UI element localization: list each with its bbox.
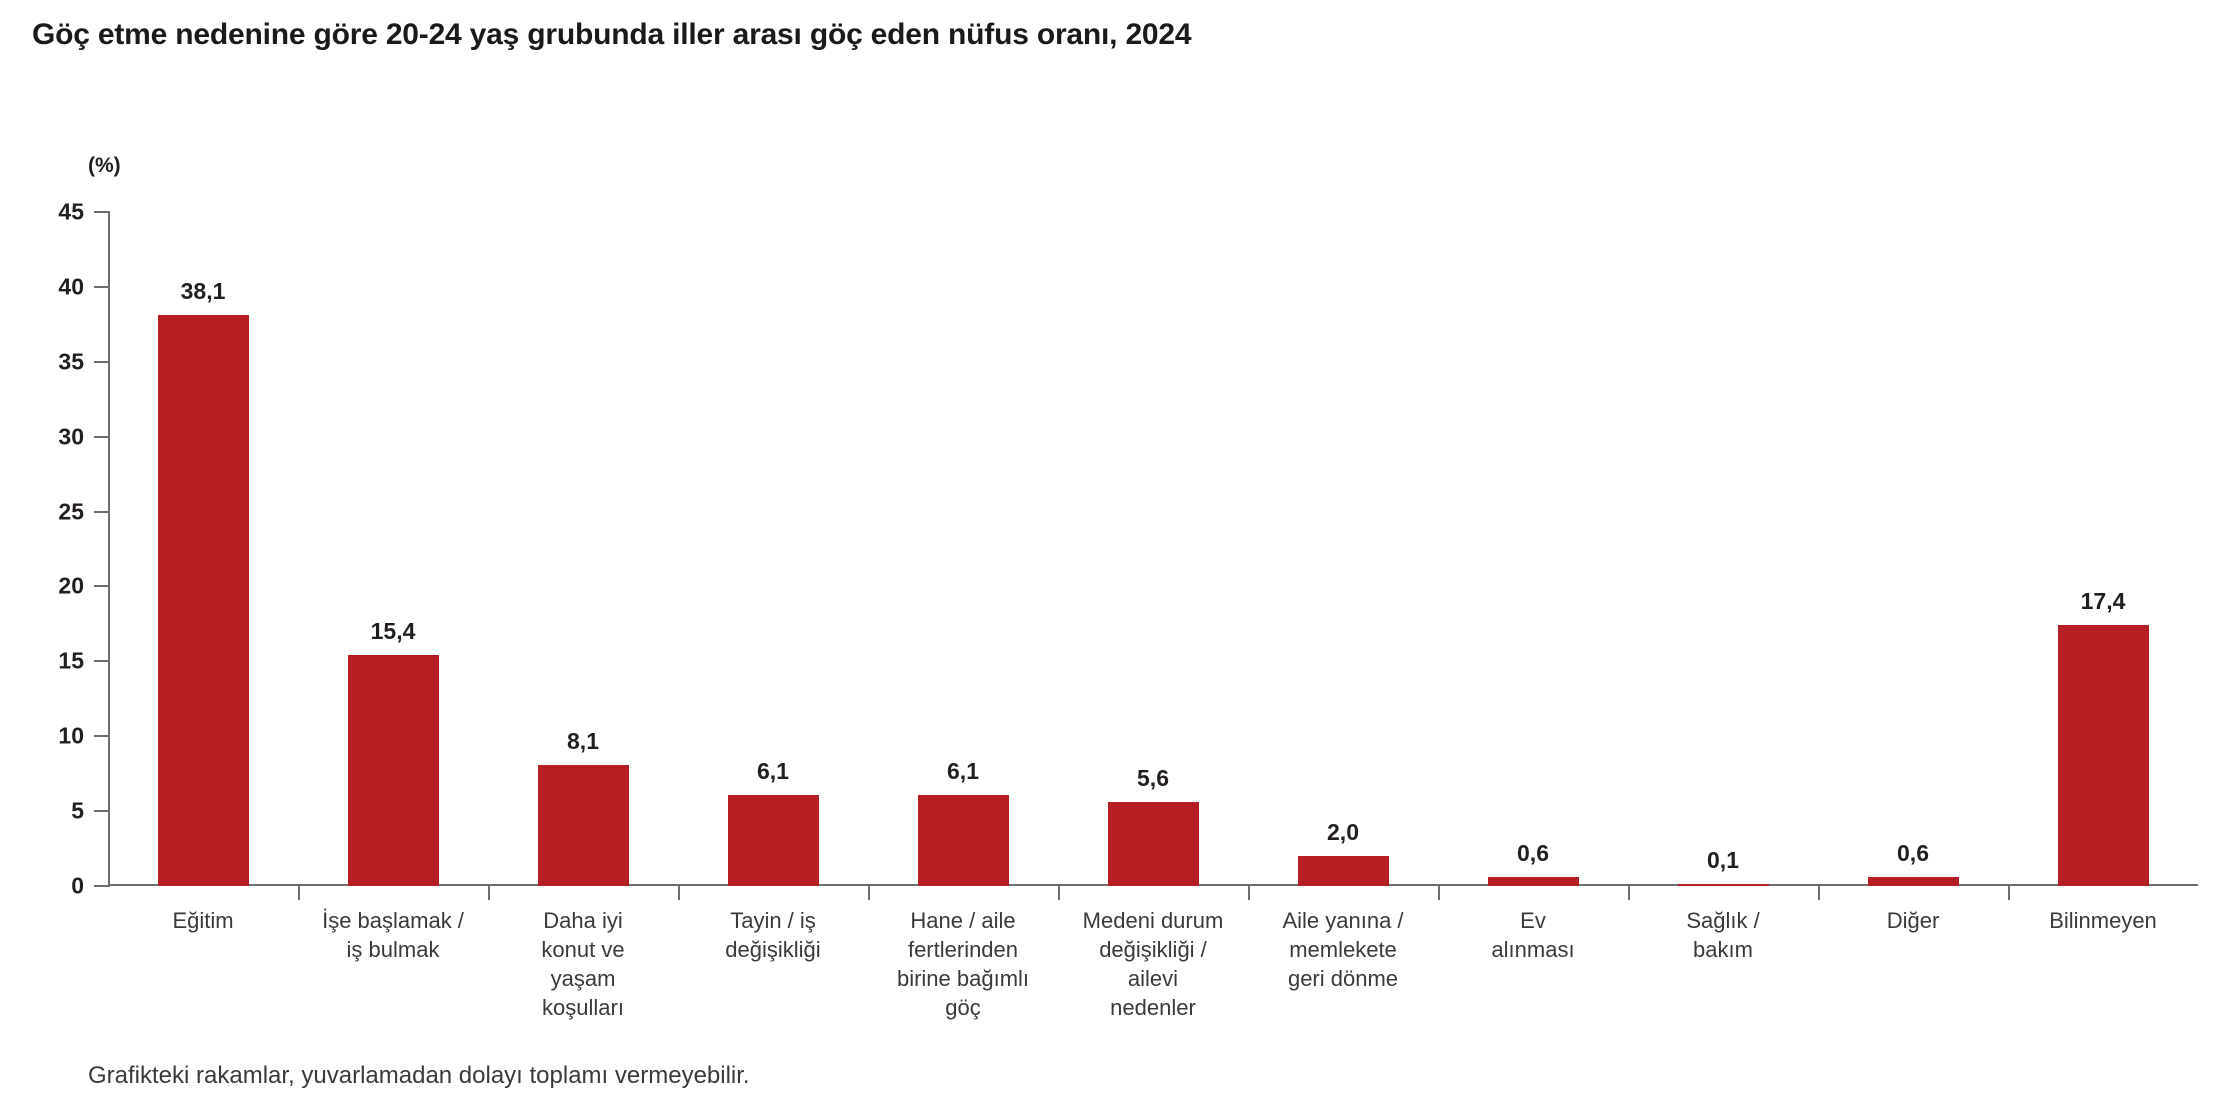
y-axis-tick-label: 15 (14, 648, 84, 675)
bar-value-label: 6,1 (947, 758, 979, 785)
bar[interactable] (1488, 877, 1579, 886)
bar-column[interactable]: 0,1 (1678, 212, 1769, 886)
bar[interactable] (1868, 877, 1959, 886)
bar[interactable] (2058, 625, 2149, 886)
category-label-line: Eğitim (108, 906, 298, 935)
bar-column[interactable]: 6,1 (728, 212, 819, 886)
x-axis-category-label: Aile yanına /memleketegeri dönme (1248, 906, 1438, 993)
x-axis-tick (1248, 886, 1250, 900)
bar-value-label: 38,1 (181, 278, 226, 305)
x-axis-tick (298, 886, 300, 900)
x-axis-tick (2008, 886, 2010, 900)
bar-column[interactable]: 2,0 (1298, 212, 1389, 886)
category-label-line: Sağlık / (1628, 906, 1818, 935)
category-label-line: alınması (1438, 935, 1628, 964)
bar-value-label: 17,4 (2081, 588, 2126, 615)
y-axis-tick (94, 660, 110, 662)
y-axis-tick (94, 585, 110, 587)
y-axis-tick-label: 20 (14, 573, 84, 600)
y-axis-tick (94, 211, 110, 213)
category-label-line: birine bağımlı (868, 964, 1058, 993)
x-axis-tick (1438, 886, 1440, 900)
bar-value-label: 8,1 (567, 728, 599, 755)
category-label-line: geri dönme (1248, 964, 1438, 993)
x-axis-tick (868, 886, 870, 900)
category-label-line: memlekete (1248, 935, 1438, 964)
y-axis-tick-label: 5 (14, 798, 84, 825)
category-label-line: nedenler (1058, 993, 1248, 1022)
chart-footnote: Grafikteki rakamlar, yuvarlamadan dolayı… (88, 1062, 750, 1090)
y-axis-tick-label: 10 (14, 723, 84, 750)
category-label-line: Aile yanına / (1248, 906, 1438, 935)
category-label-line: Ev (1438, 906, 1628, 935)
category-label-line: fertlerinden (868, 935, 1058, 964)
x-axis-category-label: Eğitim (108, 906, 298, 935)
x-axis-category-label: Sağlık /bakım (1628, 906, 1818, 964)
bar-column[interactable]: 17,4 (2058, 212, 2149, 886)
bar-column[interactable]: 5,6 (1108, 212, 1199, 886)
category-label-line: değişikliği / (1058, 935, 1248, 964)
x-axis-tick (678, 886, 680, 900)
category-label-line: Diğer (1818, 906, 2008, 935)
category-label-line: Bilinmeyen (2008, 906, 2198, 935)
bar-column[interactable]: 6,1 (918, 212, 1009, 886)
x-axis-category-label: Tayin / işdeğişikliği (678, 906, 868, 964)
y-axis-tick (94, 511, 110, 513)
bar-value-label: 2,0 (1327, 819, 1359, 846)
category-label-line: konut ve (488, 935, 678, 964)
bar[interactable] (1108, 802, 1199, 886)
y-axis-tick (94, 885, 110, 887)
bar-column[interactable]: 0,6 (1868, 212, 1959, 886)
y-axis-unit-label: (%) (88, 154, 121, 178)
category-label-line: Medeni durum (1058, 906, 1248, 935)
bar-value-label: 6,1 (757, 758, 789, 785)
bar-value-label: 5,6 (1137, 765, 1169, 792)
bar-value-label: 0,6 (1517, 840, 1549, 867)
chart-plot-area: (%) 051015202530354045 38,115,48,16,16,1… (0, 140, 2216, 900)
category-label-line: ailevi (1058, 964, 1248, 993)
bar-value-label: 0,1 (1707, 847, 1739, 874)
bar[interactable] (348, 655, 439, 886)
bar[interactable] (918, 795, 1009, 886)
x-axis-category-label: Evalınması (1438, 906, 1628, 964)
y-axis-tick-label: 45 (14, 199, 84, 226)
x-axis-category-label: Daha iyikonut veyaşamkoşulları (488, 906, 678, 1022)
bar-column[interactable]: 0,6 (1488, 212, 1579, 886)
y-axis-tick (94, 286, 110, 288)
y-axis-tick-label: 25 (14, 498, 84, 525)
y-axis-tick-label: 40 (14, 273, 84, 300)
y-axis-tick-label: 30 (14, 423, 84, 450)
bar-column[interactable]: 15,4 (348, 212, 439, 886)
category-label-line: göç (868, 993, 1058, 1022)
y-axis-tick (94, 361, 110, 363)
category-label-line: Hane / aile (868, 906, 1058, 935)
category-label-line: bakım (1628, 935, 1818, 964)
bar[interactable] (538, 765, 629, 886)
category-label-line: iş bulmak (298, 935, 488, 964)
x-axis-tick (488, 886, 490, 900)
category-label-line: Daha iyi (488, 906, 678, 935)
y-axis-tick (94, 810, 110, 812)
bar-value-label: 0,6 (1897, 840, 1929, 867)
bar[interactable] (158, 315, 249, 886)
y-axis-tick (94, 735, 110, 737)
x-axis-category-label: İşe başlamak /iş bulmak (298, 906, 488, 964)
category-label-line: yaşam (488, 964, 678, 993)
x-axis-category-label: Diğer (1818, 906, 2008, 935)
x-axis-category-label: Hane / ailefertlerindenbirine bağımlıgöç (868, 906, 1058, 1022)
y-axis-tick (94, 436, 110, 438)
x-axis-tick (1058, 886, 1060, 900)
x-axis-category-label: Bilinmeyen (2008, 906, 2198, 935)
category-label-line: koşulları (488, 993, 678, 1022)
bar-value-label: 15,4 (371, 618, 416, 645)
bar-column[interactable]: 8,1 (538, 212, 629, 886)
category-label-line: değişikliği (678, 935, 868, 964)
y-axis-line (108, 212, 110, 886)
bar-column[interactable]: 38,1 (158, 212, 249, 886)
bar[interactable] (728, 795, 819, 886)
x-axis-category-label: Medeni durumdeğişikliği /ailevinedenler (1058, 906, 1248, 1022)
y-axis-tick-label: 0 (14, 873, 84, 900)
x-axis-tick (1628, 886, 1630, 900)
y-axis-tick-label: 35 (14, 348, 84, 375)
x-axis-tick (1818, 886, 1820, 900)
bar[interactable] (1298, 856, 1389, 886)
bar[interactable] (1678, 884, 1769, 886)
category-label-line: Tayin / iş (678, 906, 868, 935)
page-title: Göç etme nedenine göre 20-24 yaş grubund… (32, 18, 1191, 52)
category-label-line: İşe başlamak / (298, 906, 488, 935)
